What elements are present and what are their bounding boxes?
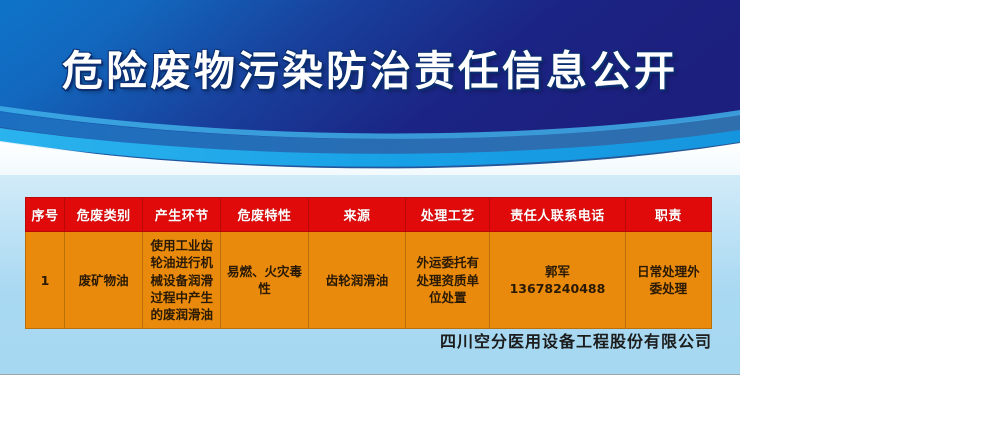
th-index: 序号 [26,198,65,232]
cell-source: 齿轮润滑油 [308,232,406,329]
th-category: 危废类别 [65,198,143,232]
cell-generation-stage: 使用工业齿轮油进行机械设备润滑过程中产生的废润滑油 [143,232,221,329]
cell-treatment: 外运委托有处理资质单位处置 [406,232,490,329]
poster-container: 危险废物污染防治责任信息公开 序号 危废类别 产生环节 危废特性 来源 处理工艺… [0,0,740,374]
responsible-name: 郭军 [495,263,620,280]
th-duty: 职责 [625,198,711,232]
company-name: 四川空分医用设备工程股份有限公司 [0,328,712,352]
th-hazard-property: 危废特性 [221,198,308,232]
cell-hazard-property: 易燃、火灾毒性 [221,232,308,329]
cell-index: 1 [26,232,65,329]
cell-contact: 郭军 13678240488 [490,232,626,329]
banner: 危险废物污染防治责任信息公开 [0,0,740,175]
th-source: 来源 [308,198,406,232]
table-row: 1 废矿物油 使用工业齿轮油进行机械设备润滑过程中产生的废润滑油 易燃、火灾毒性… [26,232,712,329]
duty-text: 日常处理外委处理 [636,263,700,298]
table-header-row: 序号 危废类别 产生环节 危废特性 来源 处理工艺 责任人联系电话 职责 [26,198,712,232]
cell-category: 废矿物油 [65,232,143,329]
th-treatment: 处理工艺 [406,198,490,232]
responsible-phone: 13678240488 [495,280,620,297]
hazardous-waste-table: 序号 危废类别 产生环节 危废特性 来源 处理工艺 责任人联系电话 职责 1 废… [25,197,712,329]
th-contact-phone: 责任人联系电话 [490,198,626,232]
cell-duty: 日常处理外委处理 [625,232,711,329]
th-generation-stage: 产生环节 [143,198,221,232]
page-title: 危险废物污染防治责任信息公开 [62,37,678,97]
title-area: 危险废物污染防治责任信息公开 [0,0,740,145]
